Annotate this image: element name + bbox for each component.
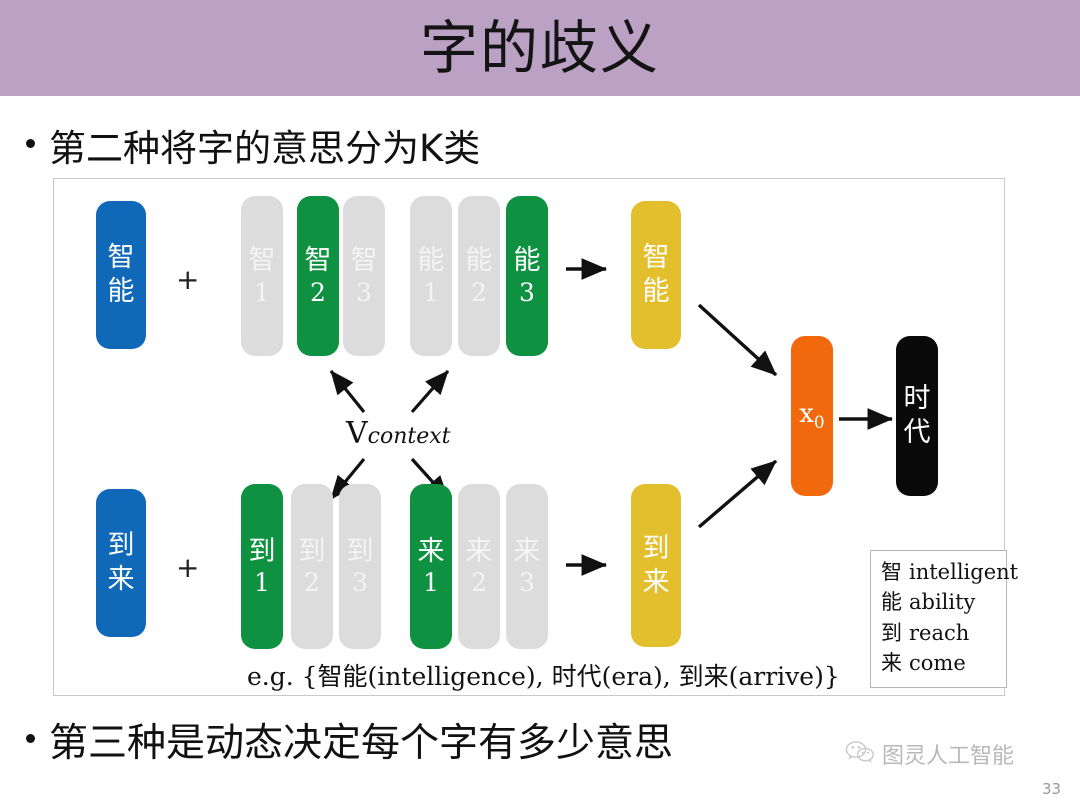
plus-symbol-top: +: [176, 263, 199, 296]
result-pill-char2: 代: [904, 416, 931, 450]
legend-box: 智intelligent 能ability 到reach 来come: [870, 550, 1007, 688]
sense-pill-top-a-1[interactable]: 智 1: [241, 196, 283, 356]
sense-pill-bottom-a-1-char: 到: [249, 535, 276, 569]
sense-pill-top-b-1-char: 能: [418, 244, 445, 278]
output-pill-top-char1: 智: [643, 241, 670, 275]
sense-pill-bottom-a-2-char: 到: [299, 535, 326, 569]
arrow-top-output-to-combiner: [699, 305, 776, 375]
example-text: e.g. {智能(intelligence), 时代(era), 到来(arri…: [247, 657, 840, 693]
sense-pill-bottom-a-3-char: 到: [347, 535, 374, 569]
legend-english: intelligent: [909, 560, 1018, 584]
sense-pill-bottom-a-1-index: 1: [254, 568, 270, 598]
bullet-dot-icon: [26, 139, 35, 148]
legend-row: 到reach: [881, 618, 996, 648]
sense-pill-top-b-2-char: 能: [466, 244, 493, 278]
input-pill-bottom-char2: 来: [108, 563, 135, 597]
arrow-bottom-output-to-combiner: [699, 461, 776, 527]
sense-pill-bottom-b-3[interactable]: 来 3: [506, 484, 548, 649]
sense-pill-top-a-3-char: 智: [351, 244, 378, 278]
sense-pill-top-a-2-char: 智: [305, 244, 332, 278]
page-number: 33: [1042, 780, 1061, 798]
input-pill-bottom-char1: 到: [108, 529, 135, 563]
arrow-context-up-right: [412, 371, 448, 412]
sense-pill-bottom-b-2-char: 来: [466, 535, 493, 569]
diagram-panel: 智 能 + 智 1 智 2 智 3 能 1 能 2 能 3 智 能 Vconte…: [53, 178, 1005, 696]
page-title: 字的歧义: [0, 0, 1080, 96]
sense-pill-bottom-a-3-index: 3: [352, 568, 368, 598]
legend-hanzi: 智: [881, 560, 902, 584]
sense-pill-top-b-1[interactable]: 能 1: [410, 196, 452, 356]
sense-pill-bottom-a-2-index: 2: [304, 568, 320, 598]
bullet-bottom-label: 第三种是动态决定每个字有多少意思: [49, 712, 673, 768]
sense-pill-bottom-b-3-index: 3: [519, 568, 535, 598]
output-pill-bottom-char1: 到: [643, 532, 670, 566]
sense-pill-bottom-a-2[interactable]: 到 2: [291, 484, 333, 649]
bullet-top-label: 第二种将字的意思分为K类: [49, 118, 480, 172]
context-vector-main: V: [346, 416, 368, 451]
input-pill-bottom[interactable]: 到 来: [96, 489, 146, 637]
sense-pill-bottom-a-3[interactable]: 到 3: [339, 484, 381, 649]
legend-row: 来come: [881, 648, 996, 678]
watermark-label: 图灵人工智能: [882, 738, 1014, 770]
output-pill-top-char2: 能: [643, 275, 670, 309]
bullet-dot-icon: [26, 734, 35, 743]
sense-pill-top-a-1-char: 智: [249, 244, 276, 278]
sense-pill-top-b-3-char: 能: [514, 244, 541, 278]
legend-row: 智intelligent: [881, 557, 996, 587]
bullet-bottom: 第三种是动态决定每个字有多少意思: [26, 712, 673, 768]
sense-pill-top-b-2-index: 2: [471, 278, 487, 308]
legend-hanzi: 能: [881, 590, 902, 614]
output-pill-top[interactable]: 智 能: [631, 201, 681, 349]
context-vector-subscript: context: [368, 424, 451, 449]
sense-pill-top-b-3[interactable]: 能 3: [506, 196, 548, 356]
sense-pill-top-b-1-index: 1: [423, 278, 439, 308]
sense-pill-top-b-3-index: 3: [519, 278, 535, 308]
legend-english: reach: [909, 621, 969, 645]
wechat-icon: [845, 740, 875, 769]
sense-pill-top-a-1-index: 1: [254, 278, 270, 308]
sense-pill-bottom-b-1[interactable]: 来 1: [410, 484, 452, 649]
combiner-pill-x0[interactable]: x0: [791, 336, 833, 496]
sense-pill-top-a-2[interactable]: 智 2: [297, 196, 339, 356]
context-vector-label: Vcontext: [346, 416, 451, 451]
bullet-top: 第二种将字的意思分为K类: [26, 118, 480, 172]
input-pill-top-char1: 智: [108, 241, 135, 275]
input-pill-top[interactable]: 智 能: [96, 201, 146, 349]
sense-pill-top-b-2[interactable]: 能 2: [458, 196, 500, 356]
sense-pill-bottom-b-1-char: 来: [418, 535, 445, 569]
combiner-pill-subscript: 0: [814, 413, 825, 433]
output-pill-bottom[interactable]: 到 来: [631, 484, 681, 647]
sense-pill-bottom-a-1[interactable]: 到 1: [241, 484, 283, 649]
combiner-pill-label: x0: [799, 399, 825, 433]
sense-pill-bottom-b-3-char: 来: [514, 535, 541, 569]
sense-pill-top-a-2-index: 2: [310, 278, 326, 308]
output-pill-bottom-char2: 来: [643, 566, 670, 600]
legend-english: ability: [909, 590, 975, 614]
legend-row: 能ability: [881, 587, 996, 617]
result-pill-char1: 时: [904, 382, 931, 416]
sense-pill-top-a-3-index: 3: [356, 278, 372, 308]
legend-hanzi: 到: [881, 621, 902, 645]
arrow-context-up-left: [331, 371, 364, 412]
slide-header-banner: 字的歧义: [0, 0, 1080, 96]
sense-pill-bottom-b-2-index: 2: [471, 568, 487, 598]
sense-pill-bottom-b-1-index: 1: [423, 568, 439, 598]
input-pill-top-char2: 能: [108, 275, 135, 309]
legend-hanzi: 来: [881, 651, 902, 675]
result-pill[interactable]: 时 代: [896, 336, 938, 496]
sense-pill-top-a-3[interactable]: 智 3: [343, 196, 385, 356]
legend-english: come: [909, 651, 966, 675]
watermark: 图灵人工智能: [845, 738, 1014, 770]
sense-pill-bottom-b-2[interactable]: 来 2: [458, 484, 500, 649]
plus-symbol-bottom: +: [176, 551, 199, 584]
